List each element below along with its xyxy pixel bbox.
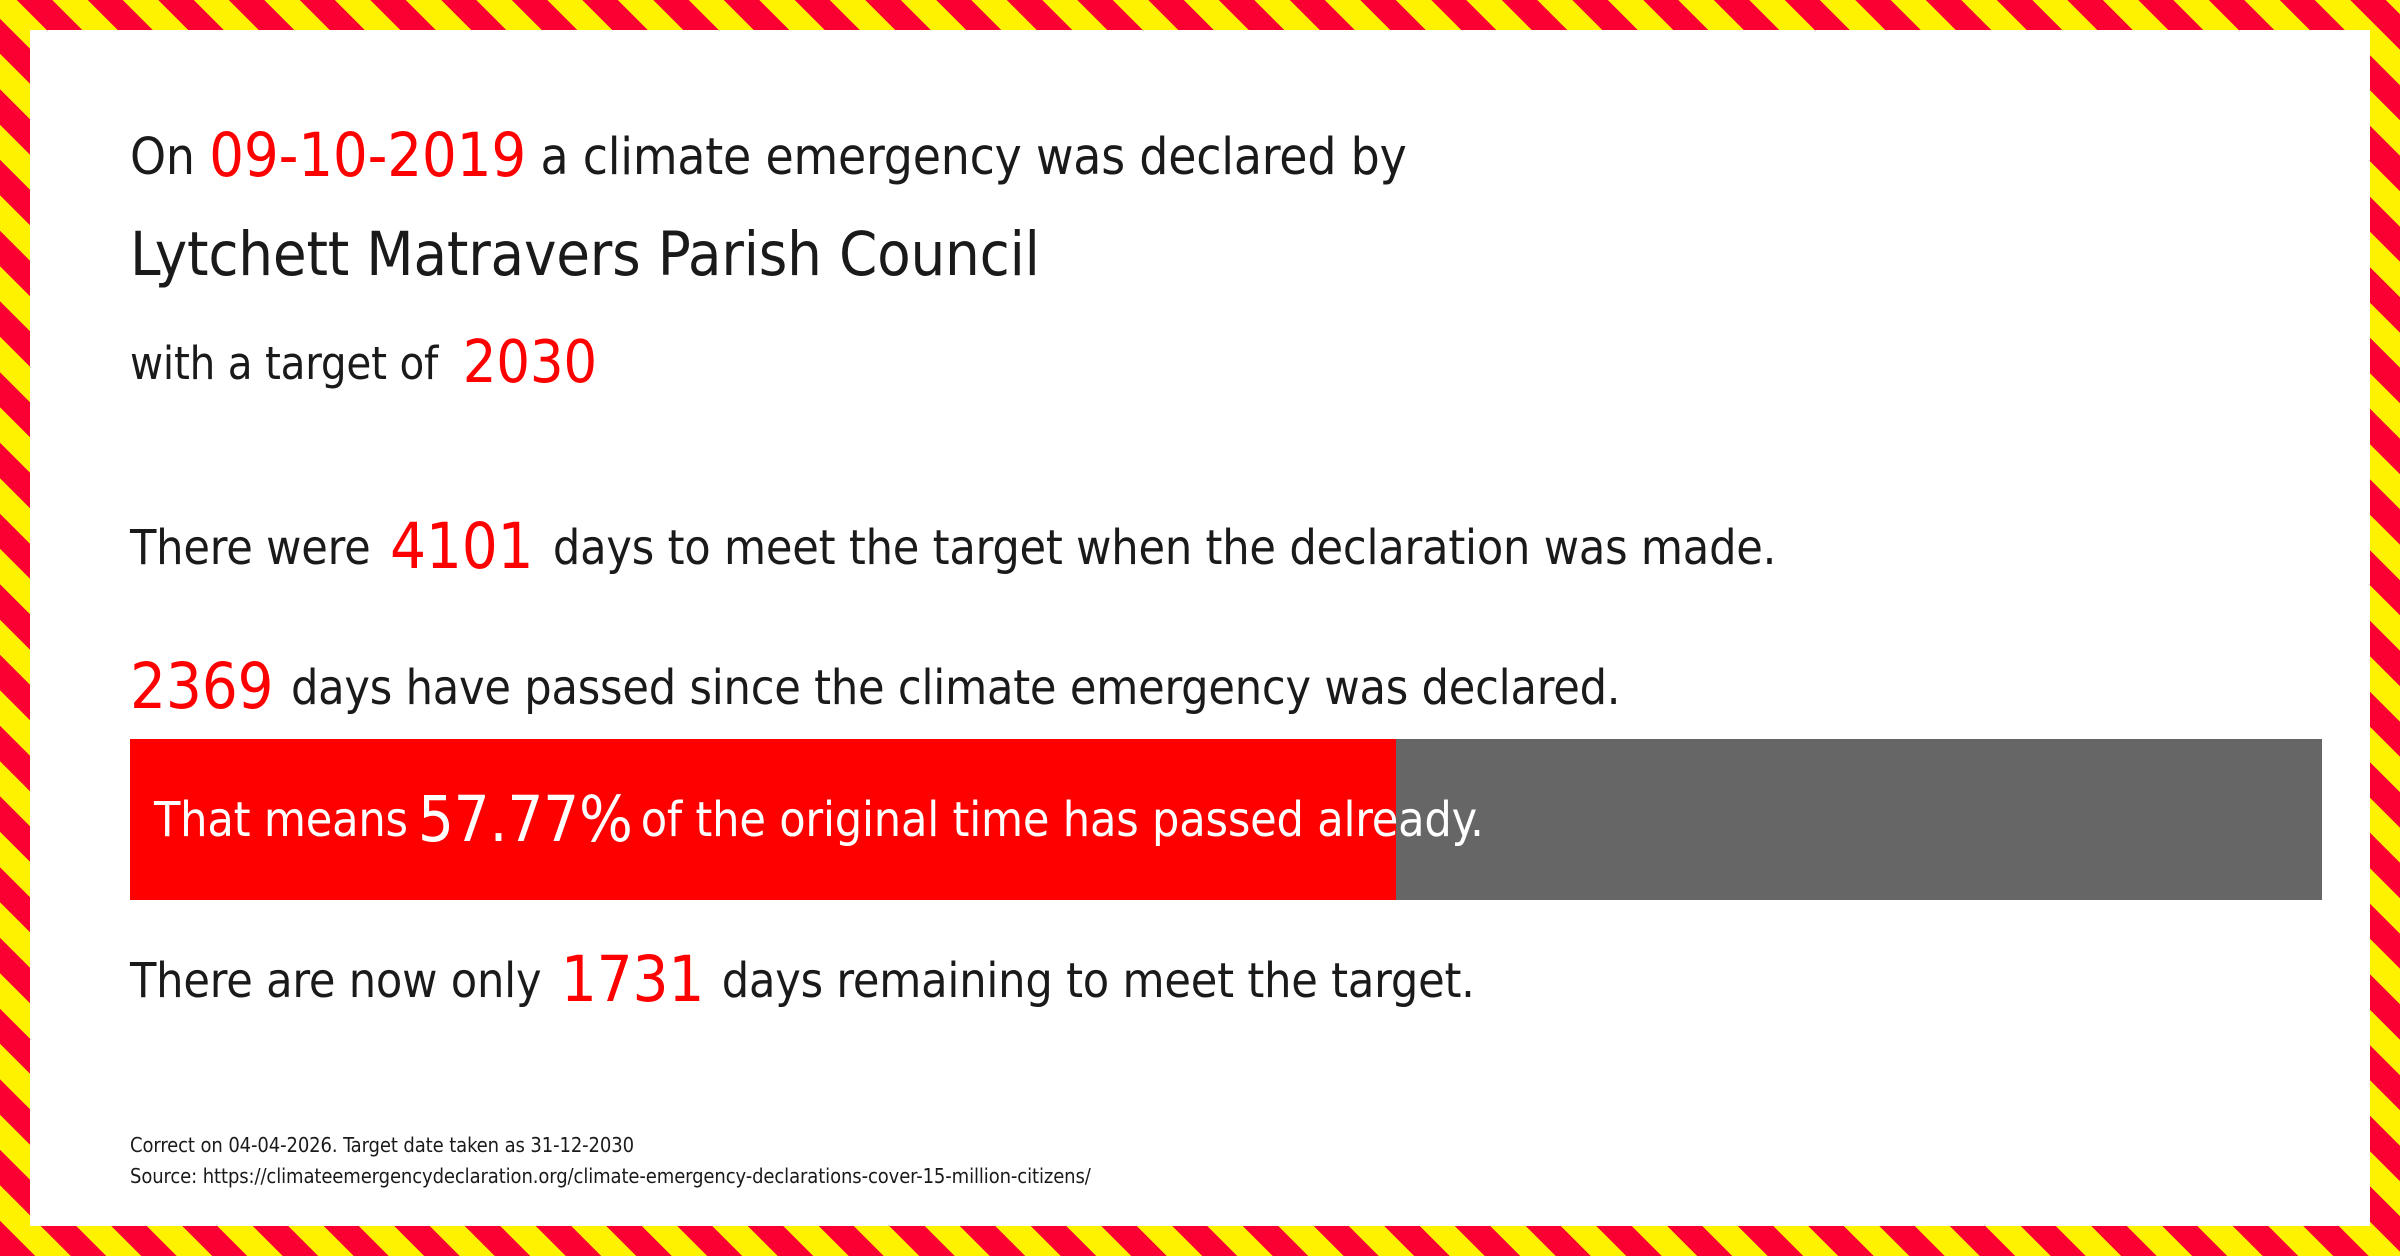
declaration-line: On 09-10-2019 a climate emergency was de… — [130, 125, 1407, 186]
time-elapsed-progress-bar: That means 57.77% of the original time h… — [130, 739, 2322, 900]
original-window-line: There were 4101 days to meet the target … — [130, 515, 1776, 578]
target-prefix: with a target of — [130, 337, 438, 390]
original-window-prefix: There were — [130, 520, 370, 576]
progress-percent: 57.77% — [418, 783, 633, 856]
declaring-authority: Lytchett Matravers Parish Council — [130, 224, 1040, 285]
footer: Correct on 04-04-2026. Target date taken… — [130, 1130, 1091, 1192]
target-year: 2030 — [463, 327, 597, 396]
progress-prefix: That means — [154, 792, 408, 848]
remaining-days-line: There are now only 1731 days remaining t… — [130, 948, 1475, 1011]
footer-correct-on: Correct on 04-04-2026. Target date taken… — [130, 1130, 1091, 1161]
elapsed-days-line: 2369 days have passed since the climate … — [130, 655, 1620, 718]
elapsed-days-suffix: days have passed since the climate emerg… — [291, 660, 1620, 716]
progress-suffix: of the original time has passed already. — [641, 792, 1484, 848]
declaration-prefix: On — [130, 128, 195, 187]
declaration-suffix: a climate emergency was declared by — [540, 128, 1406, 187]
elapsed-days-value: 2369 — [130, 650, 273, 723]
target-line: with a target of 2030 — [130, 332, 597, 391]
original-window-suffix: days to meet the target when the declara… — [553, 520, 1776, 576]
card-body: On 09-10-2019 a climate emergency was de… — [30, 30, 2370, 1226]
original-window-days: 4101 — [390, 510, 533, 583]
remaining-days-prefix: There are now only — [130, 953, 541, 1009]
hazard-striped-frame: On 09-10-2019 a climate emergency was de… — [0, 0, 2400, 1256]
declaration-date: 09-10-2019 — [209, 120, 526, 191]
remaining-days-suffix: days remaining to meet the target. — [722, 953, 1475, 1009]
remaining-days-value: 1731 — [561, 943, 704, 1016]
footer-source: Source: https://climateemergencydeclarat… — [130, 1161, 1091, 1192]
progress-bar-label: That means 57.77% of the original time h… — [154, 739, 1484, 900]
